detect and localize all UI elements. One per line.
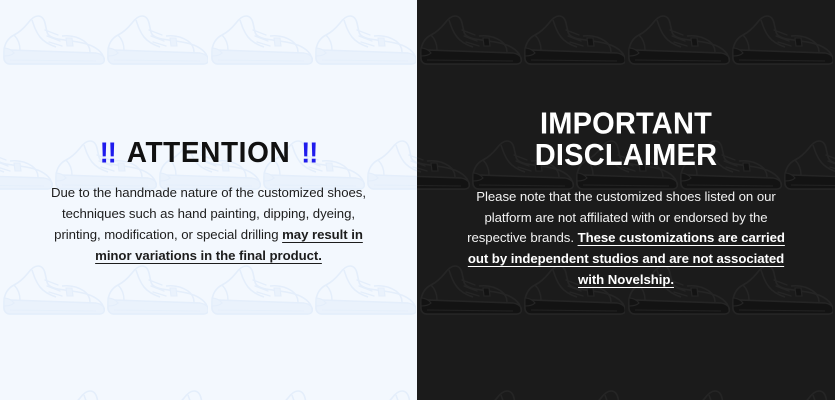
attention-content: !! ATTENTION !! Due to the handmade natu… [0,139,417,266]
disclaimer-panel: IMPORTANT DISCLAIMER Please note that th… [417,0,835,400]
attention-body: Due to the handmade nature of the custom… [38,183,379,266]
attention-panel: !! ATTENTION !! Due to the handmade natu… [0,0,417,400]
disclaimer-title-line1: IMPORTANT [453,110,799,141]
exclamation-left-icon: !! [100,139,116,168]
attention-heading: !! ATTENTION !! [38,139,379,167]
exclamation-right-icon: !! [301,139,317,168]
disclaimer-body: Please note that the customized shoes li… [453,187,799,291]
disclaimer-heading: IMPORTANT DISCLAIMER [453,110,799,172]
disclaimer-title-line2: DISCLAIMER [453,141,799,172]
customization-notice-banner: !! ATTENTION !! Due to the handmade natu… [0,0,835,400]
attention-title: ATTENTION [127,139,291,168]
disclaimer-content: IMPORTANT DISCLAIMER Please note that th… [417,111,835,291]
